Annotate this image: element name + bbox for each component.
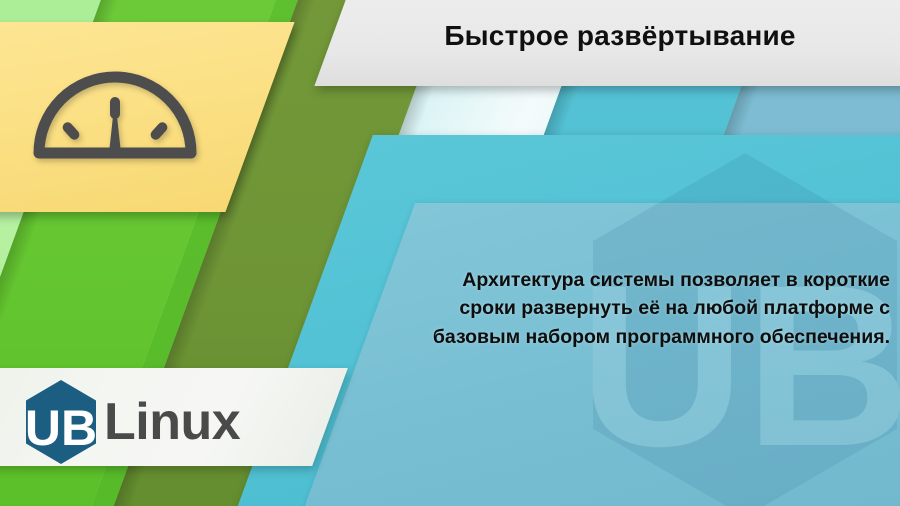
brand-logo: UB Linux (22, 378, 240, 466)
svg-text:UB: UB (25, 400, 97, 456)
ub-hexagon-icon: UB (22, 378, 100, 466)
logo-wordmark: Linux (104, 396, 240, 448)
body-paragraph: Архитектура системы позволяет в короткие… (420, 266, 890, 351)
speedometer-icon (25, 55, 205, 165)
slide-canvas: Быстрое развёртывание UB Архитектура сис… (0, 0, 900, 506)
page-title: Быстрое развёртывание (340, 20, 900, 52)
